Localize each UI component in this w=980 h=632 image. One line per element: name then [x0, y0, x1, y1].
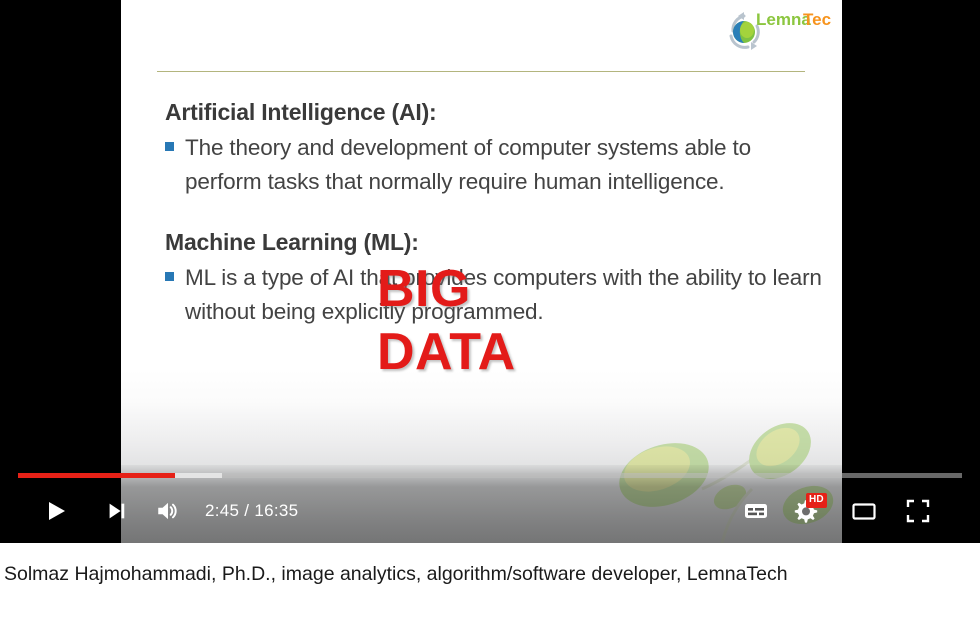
video-caption: Solmaz Hajmohammadi, Ph.D., image analyt…	[0, 560, 964, 590]
video-player[interactable]: Lemna Tec Artificial Intelligence (AI): …	[0, 0, 980, 543]
big-data-line-two: DATA	[377, 321, 516, 384]
slide-canvas: Lemna Tec Artificial Intelligence (AI): …	[121, 0, 842, 543]
section-ai: Artificial Intelligence (AI): The theory…	[165, 98, 825, 199]
next-video-button[interactable]	[92, 487, 140, 535]
lemnatec-logo: Lemna Tec	[724, 6, 820, 54]
big-data-overlay: BIG DATA	[377, 258, 516, 385]
settings-button[interactable]: HD	[784, 487, 830, 535]
section-ai-heading: Artificial Intelligence (AI):	[165, 98, 825, 127]
theater-mode-button[interactable]	[840, 487, 888, 535]
section-spacer	[165, 199, 825, 228]
subtitles-button[interactable]	[732, 487, 780, 535]
settings-gear-holder: HD	[784, 487, 830, 535]
player-controls-bar[interactable]: 2:45 / 16:35 HD	[0, 465, 980, 543]
slide-divider-rule	[157, 71, 805, 72]
volume-icon	[155, 498, 181, 524]
theater-mode-icon	[850, 497, 878, 525]
big-data-line-one: BIG	[377, 258, 516, 321]
section-ai-bullet-text: The theory and development of computer s…	[185, 131, 825, 199]
progress-played	[18, 473, 175, 478]
bullet-square-icon	[165, 142, 174, 151]
fullscreen-button[interactable]	[894, 487, 942, 535]
section-ai-bullet-row: The theory and development of computer s…	[165, 131, 825, 199]
bullet-square-icon	[165, 272, 174, 281]
subtitles-icon	[742, 497, 770, 525]
play-icon	[44, 499, 68, 523]
progress-bar[interactable]	[18, 473, 962, 478]
section-ml-heading: Machine Learning (ML):	[165, 228, 825, 257]
time-display: 2:45 / 16:35	[205, 487, 298, 535]
controls-button-row: 2:45 / 16:35 HD	[0, 487, 980, 535]
play-button[interactable]	[32, 487, 80, 535]
fullscreen-icon	[905, 498, 931, 524]
lemnatec-wordmark: Lemna Tec	[756, 9, 842, 31]
volume-button[interactable]	[144, 487, 192, 535]
next-track-icon	[105, 500, 127, 522]
hd-quality-badge: HD	[806, 493, 827, 508]
logo-text-tec: Tec	[803, 10, 831, 29]
